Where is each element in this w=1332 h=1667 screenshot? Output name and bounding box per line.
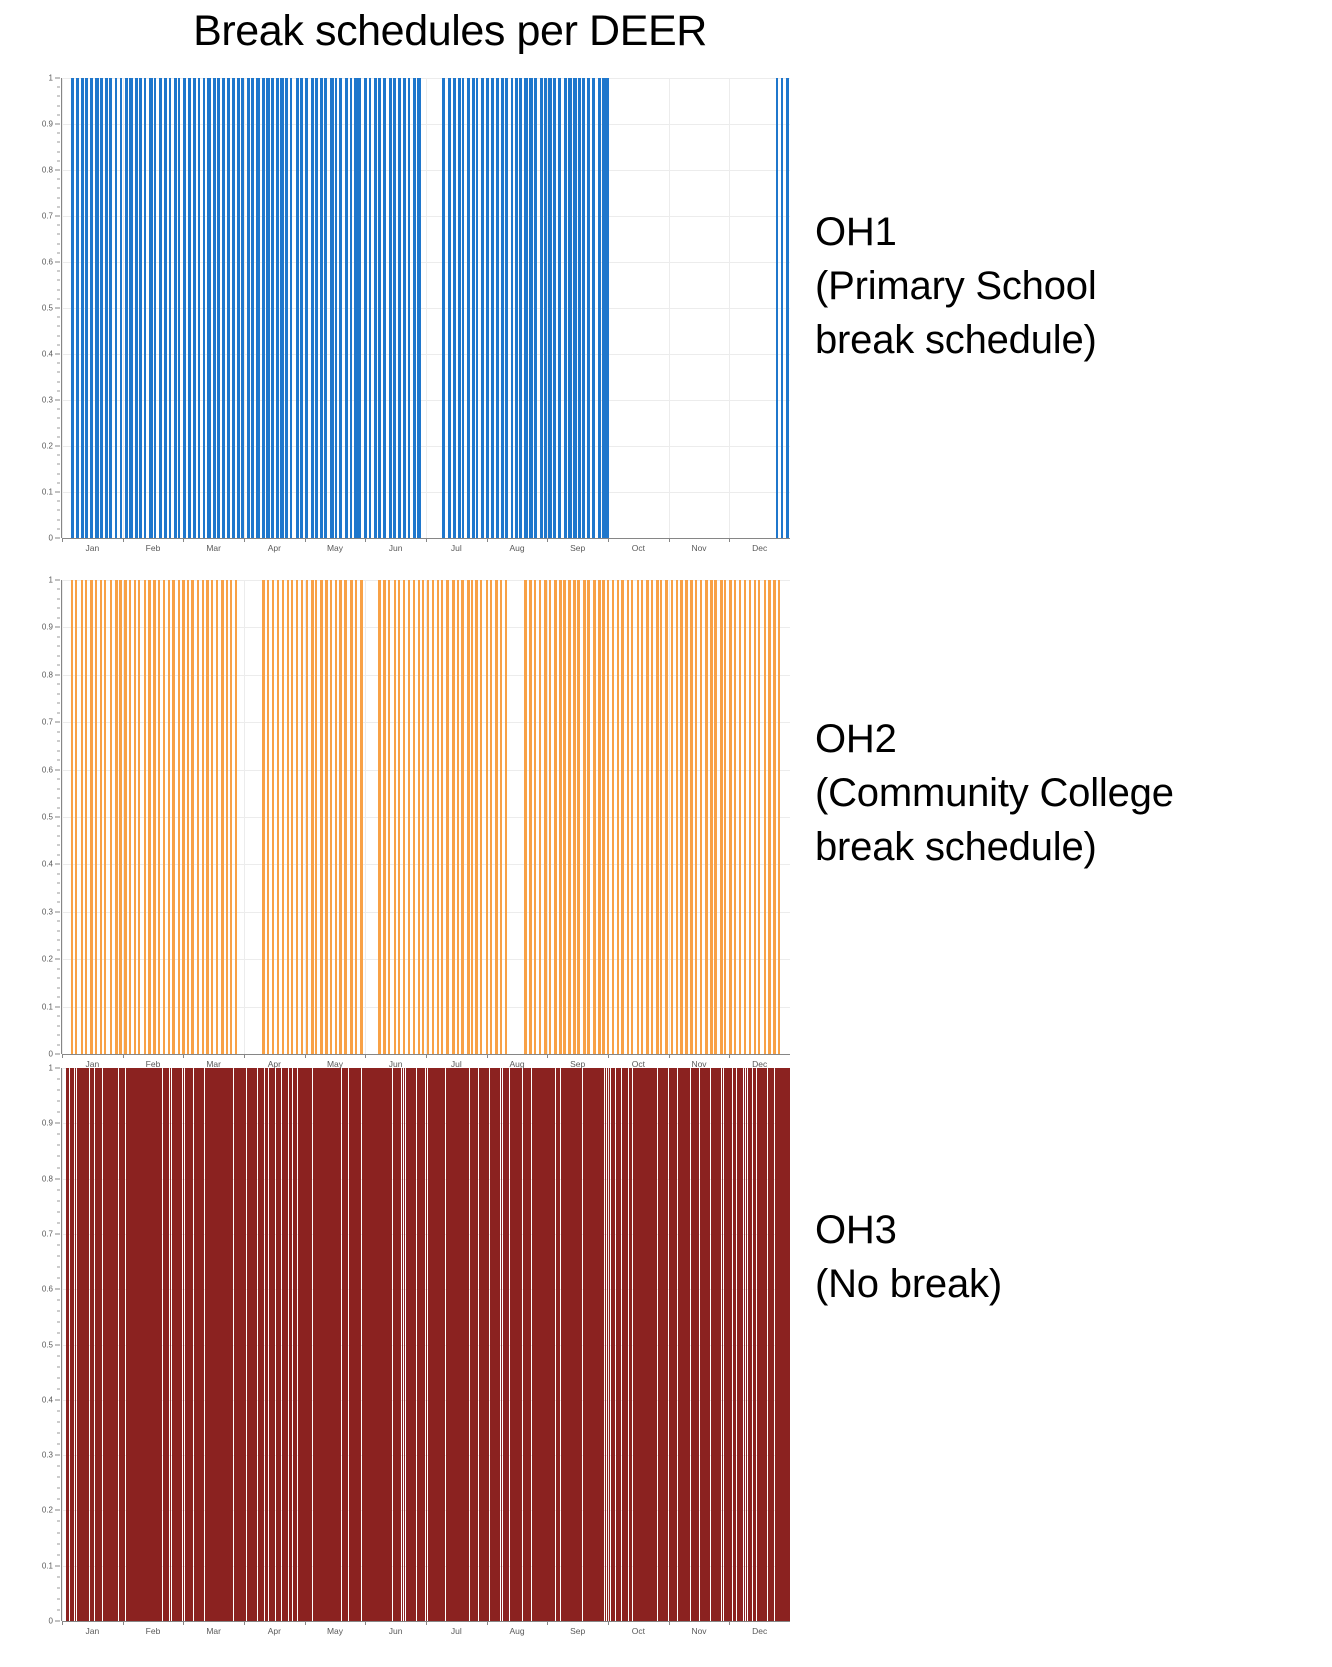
bar (578, 78, 581, 538)
bar (587, 78, 590, 538)
x-tick-label: Dec (752, 543, 767, 553)
gridline-vertical (244, 580, 245, 1054)
annotation-oh1-line2: (Primary School (815, 259, 1097, 313)
bar (744, 580, 746, 1054)
bar (607, 580, 610, 1054)
y-tick-label: 0.8 (42, 1174, 53, 1183)
bar (271, 78, 274, 538)
y-tick-minor (57, 892, 60, 893)
x-tick-label: Jun (389, 543, 403, 553)
y-tick-minor (57, 978, 60, 979)
bar (81, 78, 84, 538)
x-tick-mark (547, 538, 548, 542)
bar (241, 78, 243, 538)
y-tick-minor (57, 1311, 60, 1312)
y-tick-minor (57, 197, 60, 198)
y-tick-minor (57, 608, 60, 609)
bar (519, 78, 521, 538)
y-tick-minor (57, 1101, 60, 1102)
x-tick-label: Jan (85, 543, 99, 553)
bar (320, 78, 323, 538)
x-tick-mark (183, 538, 184, 542)
x-tick-mark (365, 538, 366, 542)
y-tick-minor (57, 87, 60, 88)
bar (720, 580, 723, 1054)
bar (120, 78, 122, 538)
bar (222, 78, 225, 538)
bar (163, 580, 166, 1054)
y-tick-mark (55, 1233, 60, 1234)
bar (369, 78, 372, 538)
x-tick-mark (608, 1054, 609, 1058)
y-tick-minor (57, 1410, 60, 1411)
bar (646, 580, 648, 1054)
bar (71, 580, 73, 1054)
y-tick-label: 0.2 (42, 1506, 53, 1515)
bar (781, 78, 783, 538)
bar (206, 580, 209, 1054)
x-tick-mark (244, 538, 245, 542)
x-tick-label: Jul (451, 543, 462, 553)
y-tick-minor (57, 436, 60, 437)
bar (582, 78, 585, 538)
y-tick-mark (55, 170, 60, 171)
plot-area-oh3 (62, 1068, 790, 1621)
bar (617, 580, 620, 1054)
bar (448, 78, 451, 538)
x-tick-label: Mar (206, 543, 221, 553)
x-tick-label: Apr (268, 543, 281, 553)
bar (306, 580, 309, 1054)
bar (577, 580, 579, 1054)
y-tick-mark (55, 538, 60, 539)
bar (690, 580, 693, 1054)
y-tick-minor (57, 151, 60, 152)
bar (95, 580, 98, 1054)
bar (583, 580, 586, 1054)
y-tick-minor (57, 845, 60, 846)
bar (125, 78, 128, 538)
x-tick-label: Oct (632, 543, 645, 553)
bar (728, 1068, 730, 1621)
bar (529, 580, 532, 1054)
y-tick-minor (57, 1222, 60, 1223)
y-tick-minor (57, 741, 60, 742)
x-tick-mark (123, 538, 124, 542)
bar (446, 580, 449, 1054)
bar (524, 78, 527, 538)
y-tick-mark (55, 400, 60, 401)
x-tick-mark (183, 1621, 184, 1625)
plot-area-oh2 (62, 580, 790, 1054)
gridline-vertical (669, 580, 670, 1054)
y-tick-minor (57, 1211, 60, 1212)
annotation-oh2-line3: break schedule) (815, 820, 1174, 874)
bar (169, 78, 171, 538)
bar (262, 78, 265, 538)
bar (266, 1068, 268, 1621)
bar (144, 580, 147, 1054)
bar (461, 580, 464, 1054)
x-tick-mark (244, 1621, 245, 1625)
bar (291, 1068, 293, 1621)
y-tick-minor (57, 1278, 60, 1279)
y-tick-minor (57, 133, 60, 134)
y-tick-label: 0.8 (42, 670, 53, 679)
bar (529, 78, 532, 538)
y-tick-minor (57, 1200, 60, 1201)
y-tick-minor (57, 280, 60, 281)
bar (81, 580, 83, 1054)
bar (768, 580, 771, 1054)
bar (593, 580, 596, 1054)
bar (417, 78, 420, 538)
y-tick-mark (55, 769, 60, 770)
bar (360, 580, 363, 1054)
y-tick-minor (57, 788, 60, 789)
bar (134, 580, 136, 1054)
y-tick-mark (55, 354, 60, 355)
y-tick-minor (57, 528, 60, 529)
y-tick-mark (55, 580, 60, 581)
y-tick-minor (57, 617, 60, 618)
bar (592, 78, 595, 538)
bar (676, 580, 678, 1054)
y-tick-minor (57, 1016, 60, 1017)
bar (403, 580, 405, 1054)
bar (553, 78, 555, 538)
bar (213, 78, 216, 538)
bar (587, 580, 590, 1054)
y-tick-minor (57, 298, 60, 299)
y-tick-minor (57, 271, 60, 272)
x-tick-label: Feb (146, 1626, 161, 1636)
bar (350, 580, 353, 1054)
bar (129, 580, 131, 1054)
bar (754, 580, 756, 1054)
bar (216, 580, 218, 1054)
bar (529, 1068, 531, 1621)
bar (148, 580, 151, 1054)
y-tick-minor (57, 750, 60, 751)
x-axis-oh1: JanFebMarAprMayJunJulAugSepOctNovDec (62, 538, 790, 560)
y-tick-minor (57, 473, 60, 474)
bar (154, 78, 156, 538)
bar (660, 580, 662, 1054)
y-tick-minor (57, 902, 60, 903)
bar (480, 580, 482, 1054)
y-tick-label: 0.3 (42, 396, 53, 405)
bar (637, 580, 639, 1054)
y-tick-label: 0.5 (42, 1340, 53, 1349)
y-tick-minor (57, 344, 60, 345)
bar (671, 580, 674, 1054)
y-tick-minor (57, 921, 60, 922)
bar (606, 78, 609, 538)
y-tick-minor (57, 873, 60, 874)
y-tick-mark (55, 124, 60, 125)
bar (544, 78, 546, 538)
y-tick-minor (57, 1156, 60, 1157)
bar (247, 78, 250, 538)
y-tick-mark (55, 627, 60, 628)
y-tick-minor (57, 1256, 60, 1257)
x-tick-mark (547, 1054, 548, 1058)
bar (227, 78, 230, 538)
y-tick-minor (57, 289, 60, 290)
y-tick-minor (57, 1044, 60, 1045)
x-tick-label: Dec (752, 1626, 767, 1636)
bar (339, 580, 342, 1054)
x-tick-label: Nov (691, 1626, 706, 1636)
y-tick-minor (57, 326, 60, 327)
y-tick-mark (55, 1006, 60, 1007)
y-tick-mark (55, 674, 60, 675)
x-tick-mark (183, 1054, 184, 1058)
y-tick-minor (57, 1477, 60, 1478)
bar (217, 78, 220, 538)
bar (558, 78, 560, 538)
x-tick-mark (669, 1054, 670, 1058)
y-tick-minor (57, 883, 60, 884)
bar (631, 1068, 633, 1621)
x-tick-mark (244, 1054, 245, 1058)
bar (758, 580, 760, 1054)
y-tick-minor (57, 703, 60, 704)
x-tick-label: Aug (509, 543, 524, 553)
y-tick-mark (55, 308, 60, 309)
bar (383, 78, 386, 538)
bar (188, 78, 191, 538)
y-tick-label: 0.5 (42, 813, 53, 822)
y-tick-minor (57, 646, 60, 647)
x-tick-mark (487, 1054, 488, 1058)
bar (476, 1068, 478, 1621)
y-tick-minor (57, 598, 60, 599)
bar (159, 78, 162, 538)
y-tick-label: 0.4 (42, 860, 53, 869)
bar (183, 78, 187, 538)
x-tick-label: Mar (206, 1626, 221, 1636)
bar (656, 580, 659, 1054)
bar (291, 580, 293, 1054)
x-tick-label: Jun (389, 1626, 403, 1636)
bar (680, 580, 682, 1054)
y-tick-minor (57, 968, 60, 969)
bar (282, 580, 285, 1054)
y-tick-label: 0 (49, 534, 53, 543)
bar (88, 1068, 90, 1621)
y-tick-minor (57, 519, 60, 520)
x-tick-label: Aug (509, 1626, 524, 1636)
bar (734, 580, 736, 1054)
y-tick-minor (57, 1598, 60, 1599)
gridline-vertical (669, 78, 670, 538)
annotation-oh3: OH3 (No break) (815, 1203, 1002, 1311)
bar (612, 580, 615, 1054)
bar (486, 580, 488, 1054)
y-tick-minor (57, 589, 60, 590)
y-tick-mark (55, 216, 60, 217)
bar (700, 580, 702, 1054)
bar (413, 78, 416, 538)
bar (573, 580, 575, 1054)
bar (230, 580, 232, 1054)
bar (85, 580, 87, 1054)
y-tick-minor (57, 712, 60, 713)
x-tick-mark (305, 538, 306, 542)
x-tick-mark (305, 1621, 306, 1625)
y-tick-label: 0.3 (42, 1451, 53, 1460)
bar (505, 78, 508, 538)
bar (345, 78, 348, 538)
x-tick-label: May (327, 1626, 343, 1636)
bar (467, 580, 470, 1054)
y-tick-minor (57, 1576, 60, 1577)
bar (315, 78, 318, 538)
bar (290, 78, 292, 538)
x-tick-label: Oct (632, 1626, 645, 1636)
page-title: Break schedules per DEER (0, 6, 900, 58)
bar (226, 580, 228, 1054)
y-tick-minor (57, 1609, 60, 1610)
bar (602, 1068, 604, 1621)
bar (437, 580, 439, 1054)
x-tick-mark (305, 1054, 306, 1058)
x-tick-label: Jan (85, 1626, 99, 1636)
bar (193, 78, 196, 538)
bar (710, 580, 713, 1054)
annotation-oh2: OH2 (Community College break schedule) (815, 712, 1174, 874)
bar (620, 1068, 622, 1621)
bar (418, 580, 420, 1054)
x-tick-mark (426, 1054, 427, 1058)
y-tick-minor (57, 160, 60, 161)
bar (467, 78, 470, 538)
bar (330, 78, 334, 538)
bar (237, 78, 241, 538)
y-tick-mark (55, 722, 60, 723)
bar (90, 580, 93, 1054)
y-tick-minor (57, 1521, 60, 1522)
y-axis-oh3: 00.10.20.30.40.50.60.70.80.91 (20, 1068, 62, 1621)
y-tick-minor (57, 854, 60, 855)
y-tick-label: 0.6 (42, 258, 53, 267)
y-tick-minor (57, 1134, 60, 1135)
y-tick-label: 0.7 (42, 718, 53, 727)
bar (202, 580, 204, 1054)
bar (408, 580, 410, 1054)
bar (85, 78, 88, 538)
bar (563, 580, 566, 1054)
y-tick-mark (55, 817, 60, 818)
y-tick-label: 0.9 (42, 623, 53, 632)
gridline-vertical (426, 78, 427, 538)
x-tick-mark (426, 538, 427, 542)
bar (378, 580, 381, 1054)
bar (568, 580, 571, 1054)
y-tick-minor (57, 105, 60, 106)
bar (132, 1068, 134, 1621)
y-tick-label: 0.3 (42, 907, 53, 916)
bar (500, 580, 503, 1054)
annotation-oh1: OH1 (Primary School break schedule) (815, 205, 1097, 367)
bar (330, 580, 332, 1054)
bar (305, 78, 308, 538)
bar (573, 78, 576, 538)
y-tick-minor (57, 1079, 60, 1080)
y-tick-label: 0.9 (42, 1119, 53, 1128)
y-tick-minor (57, 1322, 60, 1323)
bar (178, 78, 180, 538)
bar (285, 78, 288, 538)
bar (174, 78, 178, 538)
bar (266, 78, 270, 538)
y-tick-label: 0.7 (42, 1229, 53, 1238)
bar (100, 580, 102, 1054)
y-tick-mark (55, 1123, 60, 1124)
x-tick-mark (487, 1621, 488, 1625)
y-tick-minor (57, 1543, 60, 1544)
annotation-oh3-line2: (No break) (815, 1257, 1002, 1311)
bar (471, 580, 473, 1054)
x-axis-oh3: JanFebMarAprMayJunJulAugSepOctNovDec (62, 1621, 790, 1643)
y-tick-minor (57, 381, 60, 382)
x-tick-mark (608, 1621, 609, 1625)
y-tick-minor (57, 1587, 60, 1588)
y-tick-mark (55, 492, 60, 493)
bar (355, 580, 357, 1054)
plot-area-oh1 (62, 78, 790, 538)
x-tick-label: Feb (146, 543, 161, 553)
y-tick-minor (57, 1189, 60, 1190)
y-tick-mark (55, 1510, 60, 1511)
bar (251, 78, 254, 538)
y-tick-minor (57, 455, 60, 456)
bar (665, 580, 667, 1054)
bar (554, 580, 557, 1054)
bar (651, 580, 654, 1054)
y-axis-oh2: 00.10.20.30.40.50.60.70.80.91 (20, 580, 62, 1054)
chart-panel-oh1: 00.10.20.30.40.50.60.70.80.91 JanFebMarA… (20, 78, 790, 560)
y-tick-label: 0.4 (42, 350, 53, 359)
y-tick-minor (57, 835, 60, 836)
bar (548, 78, 551, 538)
bar (501, 78, 504, 538)
bar (534, 580, 536, 1054)
bar (178, 580, 180, 1054)
y-tick-minor (57, 363, 60, 364)
gridline-vertical (123, 78, 124, 538)
y-tick-minor (57, 206, 60, 207)
y-tick-minor (57, 372, 60, 373)
bar (301, 580, 303, 1054)
x-tick-label: Sep (570, 1626, 585, 1636)
bar (76, 78, 79, 538)
bar (685, 580, 688, 1054)
y-tick-minor (57, 1377, 60, 1378)
bar (549, 580, 552, 1054)
y-tick-minor (57, 760, 60, 761)
y-tick-minor (57, 188, 60, 189)
bar (119, 580, 121, 1054)
bar (388, 580, 390, 1054)
gridline-vertical (62, 580, 63, 1054)
bar (472, 78, 475, 538)
x-tick-label: Jul (451, 1626, 462, 1636)
y-tick-minor (57, 1532, 60, 1533)
y-tick-minor (57, 1244, 60, 1245)
